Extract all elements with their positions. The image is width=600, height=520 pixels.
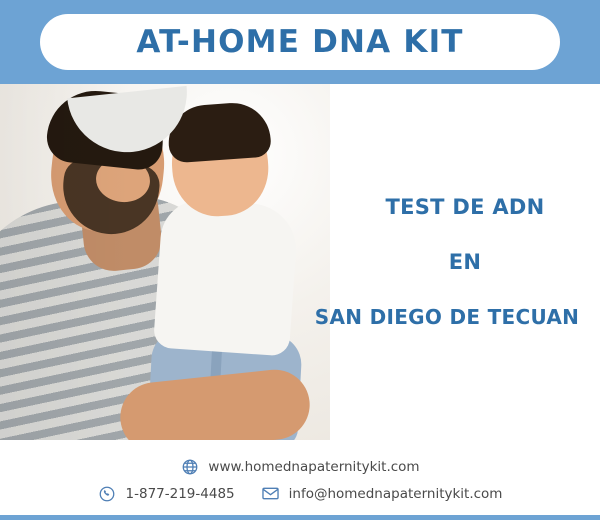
website-text: www.homednapaternitykit.com: [208, 459, 419, 475]
email-item[interactable]: info@homednapaternitykit.com: [261, 484, 503, 503]
phone-text: 1-877-219-4485: [126, 486, 235, 502]
headline-line-1: TEST DE ADN: [385, 196, 544, 219]
envelope-icon: [261, 484, 280, 503]
header-banner: AT-HOME DNA KIT: [0, 0, 600, 84]
father-holding-child-photo: [0, 84, 330, 440]
globe-icon: [180, 457, 199, 476]
headline-line-2: EN: [449, 251, 482, 274]
footer-contact-bar: www.homednapaternitykit.com 1-877-219-44…: [0, 440, 600, 520]
headline-block: TEST DE ADN EN SAN DIEGO DE TECUAN: [330, 84, 600, 440]
header-title-plate: AT-HOME DNA KIT: [40, 14, 560, 70]
email-text: info@homednapaternitykit.com: [289, 486, 503, 502]
page-title: AT-HOME DNA KIT: [136, 24, 463, 60]
bottom-accent-bar: [0, 515, 600, 520]
footer-phone-email-row: 1-877-219-4485 info@homednapaternitykit.…: [98, 484, 503, 503]
child-shirt: [153, 197, 299, 356]
phone-icon: [98, 484, 117, 503]
footer-website-row: www.homednapaternitykit.com: [180, 457, 419, 476]
headline-line-3: SAN DIEGO DE TECUAN: [315, 306, 579, 328]
phone-item[interactable]: 1-877-219-4485: [98, 484, 235, 503]
website-item[interactable]: www.homednapaternitykit.com: [180, 457, 419, 476]
promo-card: AT-HOME DNA KIT TEST DE ADN EN SAN DIEGO…: [0, 0, 600, 520]
